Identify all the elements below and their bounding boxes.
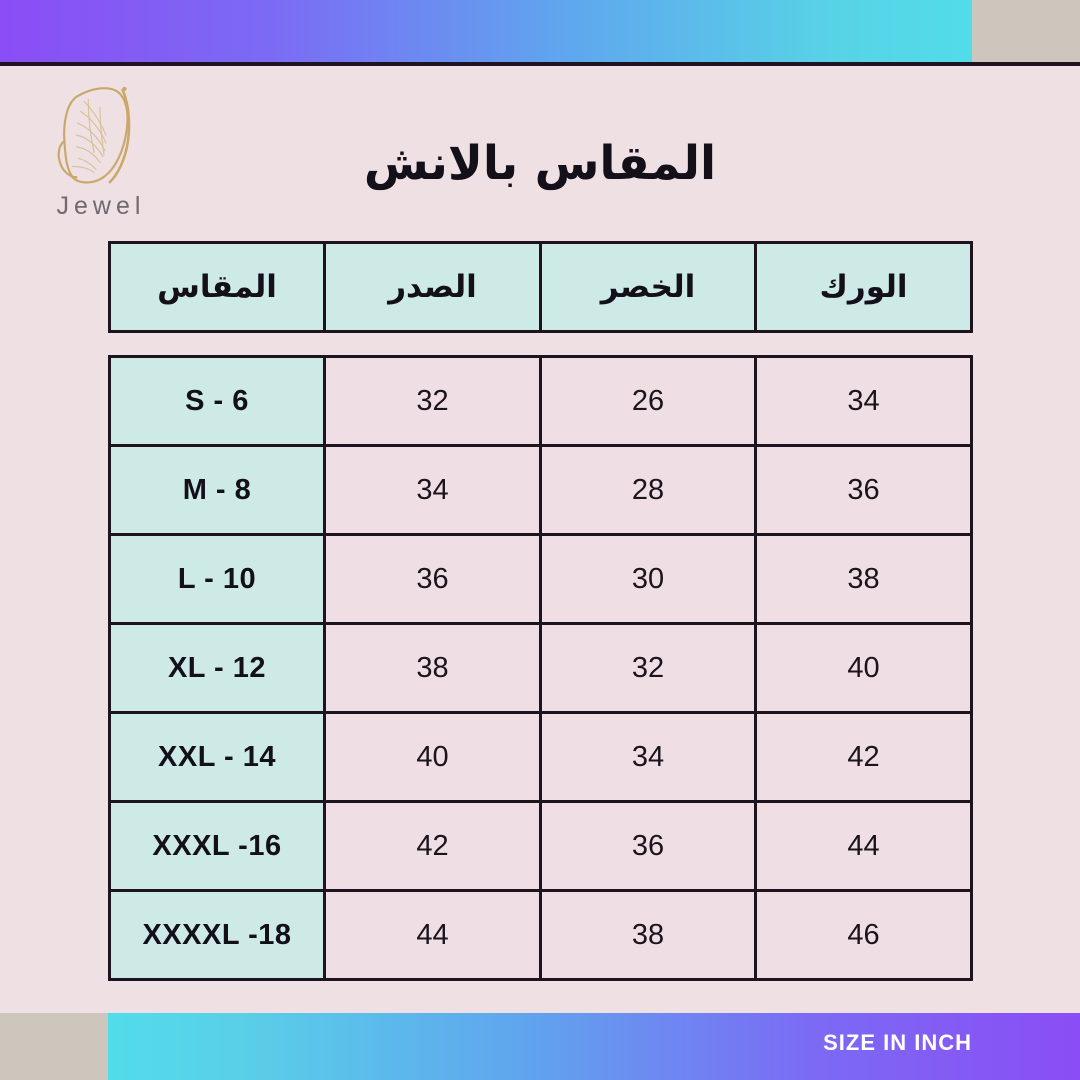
cell-chest: 42 (325, 802, 541, 891)
cell-waist: 28 (541, 446, 756, 535)
cell-waist: 32 (541, 624, 756, 713)
cell-size: XXXXL -18 (110, 891, 325, 980)
column-header-chest: الصدر (325, 243, 541, 332)
brand-name: Jewel (36, 192, 166, 221)
cell-size: L - 10 (110, 535, 325, 624)
cell-hip: 34 (756, 357, 972, 446)
cell-hip: 40 (756, 624, 972, 713)
cell-chest: 32 (325, 357, 541, 446)
cell-hip: 46 (756, 891, 972, 980)
cell-size: M - 8 (110, 446, 325, 535)
table-row: XXXL -16 42 36 44 (110, 802, 972, 891)
table-row: L - 10 36 30 38 (110, 535, 972, 624)
table-row: M - 8 34 28 36 (110, 446, 972, 535)
table-row: XL - 12 38 32 40 (110, 624, 972, 713)
table-header-row: المقاس الصدر الخصر الورك (110, 243, 972, 332)
table-row: XXXXL -18 44 38 46 (110, 891, 972, 980)
table-row: S - 6 32 26 34 (110, 357, 972, 446)
cell-waist: 26 (541, 357, 756, 446)
top-gradient-banner (0, 0, 972, 62)
page-title: المقاس بالانش (0, 136, 1080, 191)
cell-size: XXXL -16 (110, 802, 325, 891)
cell-size: XL - 12 (110, 624, 325, 713)
cell-size: S - 6 (110, 357, 325, 446)
top-banner-neutral-strip (972, 0, 1080, 62)
cell-waist: 34 (541, 713, 756, 802)
cell-chest: 36 (325, 535, 541, 624)
cell-hip: 38 (756, 535, 972, 624)
column-header-waist: الخصر (541, 243, 756, 332)
cell-chest: 38 (325, 624, 541, 713)
cell-waist: 38 (541, 891, 756, 980)
page-body: Jewel المقاس بالانش المقاس الصدر الخصر ا… (0, 66, 1080, 1013)
cell-waist: 30 (541, 535, 756, 624)
size-chart-header-table: المقاس الصدر الخصر الورك (108, 241, 973, 333)
cell-chest: 40 (325, 713, 541, 802)
cell-hip: 44 (756, 802, 972, 891)
cell-hip: 36 (756, 446, 972, 535)
size-chart: المقاس الصدر الخصر الورك S - 6 32 26 34 (108, 241, 970, 981)
footer-unit-label: SIZE IN INCH (823, 1030, 972, 1056)
cell-chest: 34 (325, 446, 541, 535)
cell-waist: 36 (541, 802, 756, 891)
cell-chest: 44 (325, 891, 541, 980)
size-chart-body-table: S - 6 32 26 34 M - 8 34 28 36 L - 10 36 … (108, 355, 973, 981)
column-header-hip: الورك (756, 243, 972, 332)
column-header-size: المقاس (110, 243, 325, 332)
table-row: XXL - 14 40 34 42 (110, 713, 972, 802)
cell-size: XXL - 14 (110, 713, 325, 802)
cell-hip: 42 (756, 713, 972, 802)
